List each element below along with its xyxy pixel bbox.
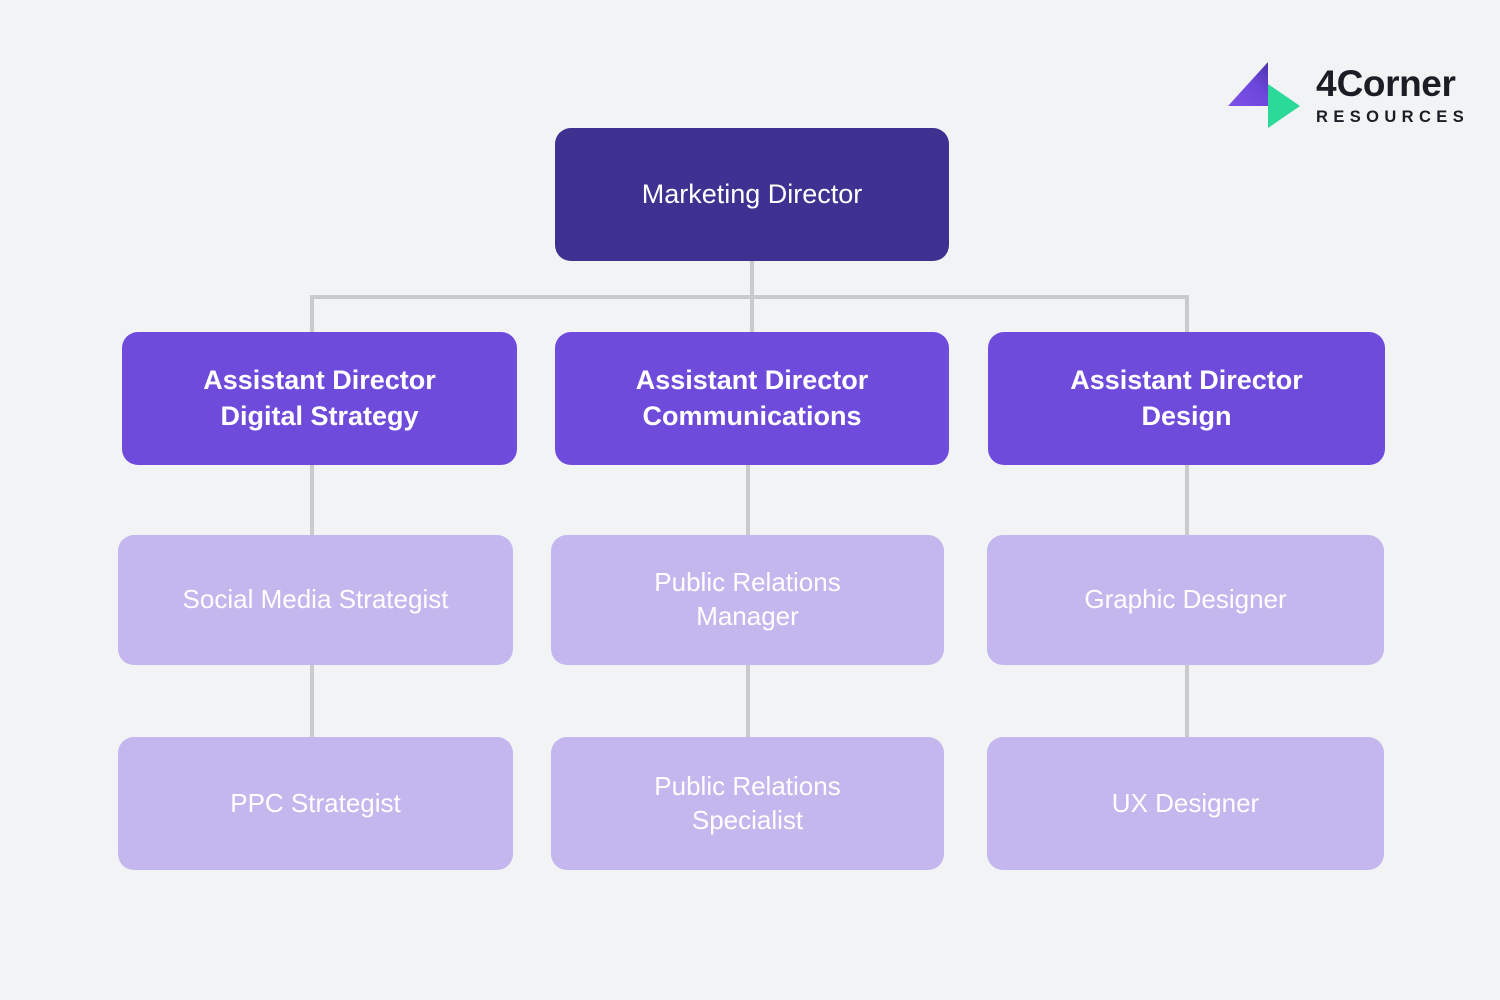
org-node-label: Public Relations Specialist (654, 770, 840, 838)
org-node-public-relations-manager[interactable]: Public Relations Manager (551, 535, 944, 665)
org-node-ppc-strategist[interactable]: PPC Strategist (118, 737, 513, 870)
org-node-marketing-director[interactable]: Marketing Director (555, 128, 949, 261)
org-node-label: UX Designer (1112, 787, 1259, 821)
brand-name: 4Corner (1316, 65, 1469, 102)
org-node-social-media-strategist[interactable]: Social Media Strategist (118, 535, 513, 665)
four-corner-logo-mark-icon (1228, 62, 1300, 128)
connector-branch-right-to-child1 (1185, 462, 1189, 538)
connector-bus-to-branch-left (310, 295, 314, 335)
connector-left-child1-to-child2 (310, 663, 314, 739)
org-node-assistant-director-design[interactable]: Assistant Director Design (988, 332, 1385, 465)
org-chart-canvas: 4Corner RESOURCES Marketing Director Ass… (0, 0, 1500, 1000)
connector-center-child1-to-child2 (746, 663, 750, 739)
connector-branch-center-to-child1 (746, 462, 750, 538)
brand-logo: 4Corner RESOURCES (1228, 62, 1469, 128)
org-node-ux-designer[interactable]: UX Designer (987, 737, 1384, 870)
org-node-label: Assistant Director Digital Strategy (203, 363, 436, 433)
org-node-public-relations-specialist[interactable]: Public Relations Specialist (551, 737, 944, 870)
org-node-label: Public Relations Manager (654, 566, 840, 634)
org-node-graphic-designer[interactable]: Graphic Designer (987, 535, 1384, 665)
brand-tagline: RESOURCES (1316, 109, 1469, 126)
connector-root-stem (750, 261, 754, 299)
brand-name-word: Corner (1337, 63, 1456, 104)
connector-right-child1-to-child2 (1185, 663, 1189, 739)
connector-bus-to-branch-right (1185, 295, 1189, 335)
connector-bus-to-branch-center (750, 295, 754, 335)
org-node-label: Marketing Director (642, 177, 863, 212)
org-node-assistant-director-communications[interactable]: Assistant Director Communications (555, 332, 949, 465)
org-node-label: Graphic Designer (1084, 583, 1286, 617)
org-node-label: Social Media Strategist (183, 583, 449, 617)
org-node-label: Assistant Director Communications (636, 363, 869, 433)
org-node-label: PPC Strategist (230, 787, 401, 821)
brand-wordmark: 4Corner RESOURCES (1316, 65, 1469, 126)
org-node-assistant-director-digital-strategy[interactable]: Assistant Director Digital Strategy (122, 332, 517, 465)
org-node-label: Assistant Director Design (1070, 363, 1303, 433)
brand-name-numeral: 4 (1316, 63, 1337, 104)
connector-branch-left-to-child1 (310, 462, 314, 538)
